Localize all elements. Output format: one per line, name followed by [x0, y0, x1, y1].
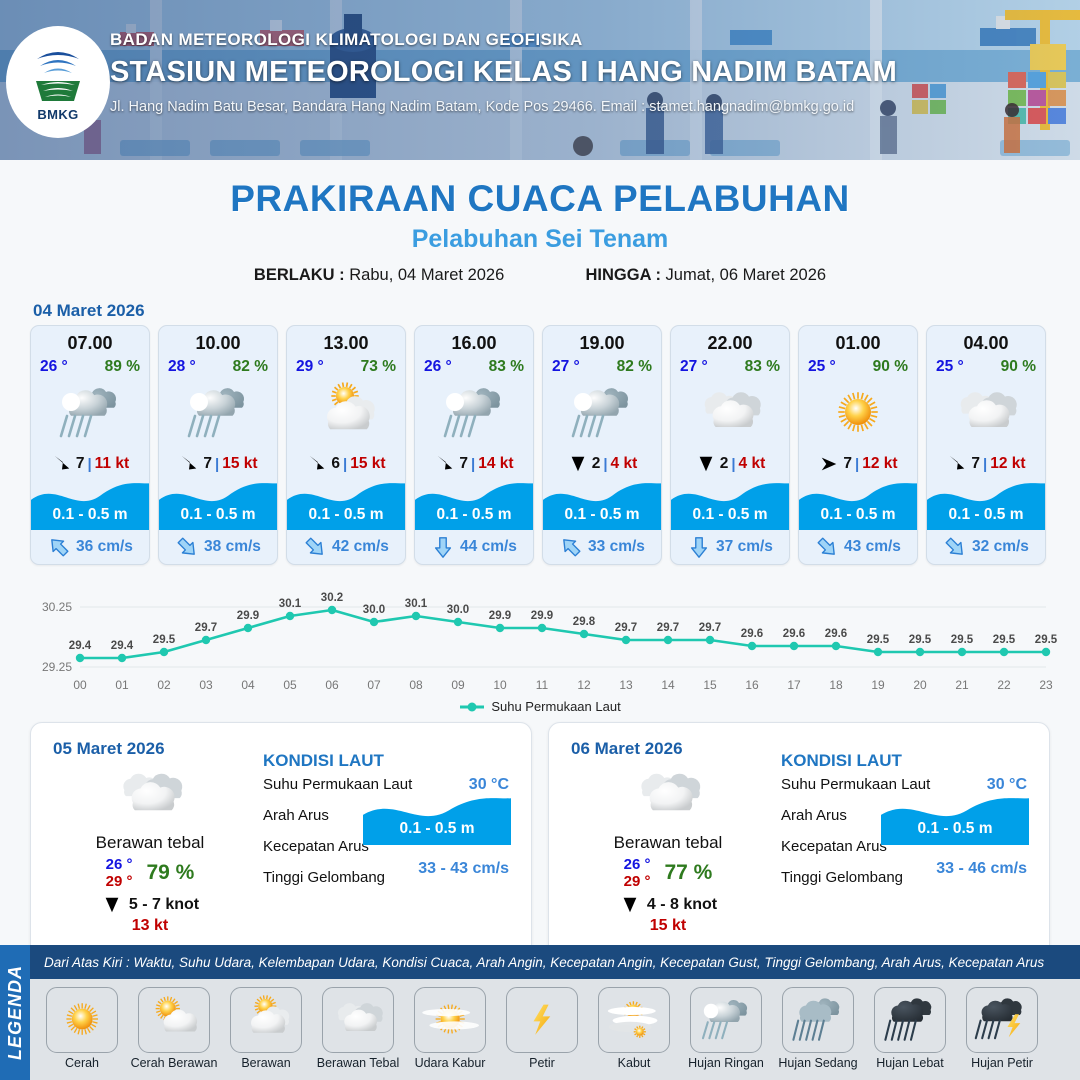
light-rain-icon — [51, 382, 129, 444]
sunny-icon — [819, 382, 897, 444]
legend-item: Petir — [498, 987, 586, 1070]
legend-item: Hujan Lebat — [866, 987, 954, 1070]
wave-height-block: 0.1 - 0.5 m — [31, 478, 149, 530]
legend-item-label: Hujan Lebat — [866, 1056, 954, 1070]
wind-info: 7 | 15 kt — [159, 450, 277, 478]
wind-direction-arrow-s-icon — [695, 454, 717, 474]
wind-separator: | — [603, 456, 607, 473]
wind-speed: 7 — [203, 455, 212, 473]
legend-item-label: Petir — [498, 1056, 586, 1070]
wind-separator: | — [471, 456, 475, 473]
hourly-forecast-row: 07.00 26 ° 89 % 7 | 11 kt 0.1 - 0. — [0, 325, 1080, 565]
wind-info: 7 | 12 kt — [799, 450, 917, 478]
wave-height-block: 0.1 - 0.5 m — [159, 478, 277, 530]
legend-icon-cell — [598, 987, 670, 1053]
current-direction-arrow-se-icon — [815, 535, 839, 559]
wave-height-row: Tinggi Gelombang — [781, 869, 1035, 900]
svg-text:30.1: 30.1 — [405, 598, 428, 610]
wind-speed-range: 5 - 7 knot — [129, 896, 199, 914]
legend-item: Berawan Tebal — [314, 987, 402, 1070]
legend-line-marker-icon — [459, 701, 485, 713]
svg-text:29.9: 29.9 — [531, 610, 553, 622]
wind-direction-arrow-e-icon — [818, 454, 840, 474]
wind-gust: 14 kt — [478, 455, 513, 473]
wind-direction-arrow-s-icon — [567, 454, 589, 474]
wind-info: 6 | 15 kt — [287, 450, 405, 478]
wind-speed: 7 — [971, 455, 980, 473]
legend-icon-cell — [966, 987, 1038, 1053]
thunder-icon — [511, 995, 573, 1045]
wind-gust: 11 kt — [95, 455, 129, 473]
air-temperature: 25 ° — [808, 358, 836, 376]
hourly-date-label: 04 Maret 2026 — [33, 301, 1080, 321]
wind-speed: 2 — [592, 455, 601, 473]
air-temperature: 27 ° — [552, 358, 580, 376]
wave-height-value: 0.1 - 0.5 m — [31, 506, 149, 524]
weather-condition-icon — [799, 376, 917, 450]
overcast-icon — [627, 763, 709, 828]
sst-chart-canvas: 30.2529.2529.40029.40129.50229.70329.904… — [22, 579, 1058, 697]
weather-condition-icon — [287, 376, 405, 450]
forecast-time: 07.00 — [31, 326, 149, 354]
hourly-forecast-card[interactable]: 22.00 27 ° 83 % 2 | 4 kt 0.1 - 0.5 — [670, 325, 790, 565]
daily-forecast-panel[interactable]: 06 Maret 2026 Berawan tebal 26 ° 29 ° 77… — [548, 722, 1050, 962]
current-info: 37 cm/s — [671, 530, 789, 564]
svg-text:07: 07 — [367, 678, 381, 692]
air-temperature: 25 ° — [936, 358, 964, 376]
legend-item: Hujan Ringan — [682, 987, 770, 1070]
humidity: 82 % — [233, 358, 268, 376]
wind-gust: 4 kt — [739, 455, 766, 473]
wave-height-label: Tinggi Gelombang — [781, 869, 903, 886]
light-rain-icon — [695, 995, 757, 1045]
svg-text:29.5: 29.5 — [867, 634, 890, 646]
bmkg-logo: BMKG — [6, 26, 110, 138]
svg-text:29.6: 29.6 — [825, 628, 847, 640]
svg-text:20: 20 — [913, 678, 927, 692]
current-direction-arrow-se-icon — [175, 535, 199, 559]
current-direction-arrow-se-icon — [303, 535, 327, 559]
svg-text:04: 04 — [241, 678, 255, 692]
wind-info: 2 | 4 kt — [543, 450, 661, 478]
wind-speed: 7 — [459, 455, 468, 473]
wave-height-label: Tinggi Gelombang — [263, 869, 385, 886]
wind-speed: 7 — [843, 455, 852, 473]
svg-text:29.5: 29.5 — [1035, 634, 1058, 646]
page-header: BMKG BADAN METEOROLOGI KLIMATOLOGI DAN G… — [0, 0, 1080, 160]
legend-icon-cell — [414, 987, 486, 1053]
current-direction-arrow-nw-icon — [47, 535, 71, 559]
organization-name: BADAN METEOROLOGI KLIMATOLOGI DAN GEOFIS… — [110, 30, 1050, 50]
wave-height-block: 0.1 - 0.5 m — [363, 793, 511, 845]
weather-condition-icon — [543, 376, 661, 450]
wind-direction-arrow-nw-icon — [178, 454, 200, 474]
wind-direction-arrow-nw-icon — [51, 454, 73, 474]
wind-separator: | — [215, 456, 219, 473]
legend-item: Berawan — [222, 987, 310, 1070]
wave-height-row: Tinggi Gelombang — [263, 869, 517, 900]
svg-text:30.0: 30.0 — [363, 604, 385, 616]
forecast-time: 01.00 — [799, 326, 917, 354]
wind-gust: 4 kt — [611, 455, 638, 473]
svg-text:29.9: 29.9 — [489, 610, 511, 622]
weather-condition-label: Berawan tebal — [45, 833, 255, 853]
overcast-icon — [327, 995, 389, 1045]
legend-icon-cell — [782, 987, 854, 1053]
legend-icon-cell — [690, 987, 762, 1053]
svg-text:23: 23 — [1039, 678, 1053, 692]
current-direction-arrow-s-icon — [687, 535, 711, 559]
svg-text:29.5: 29.5 — [993, 634, 1016, 646]
hourly-forecast-card[interactable]: 10.00 28 ° 82 % 7 | 15 kt 0.1 - 0. — [158, 325, 278, 565]
legend-note: Dari Atas Kiri : Waktu, Suhu Udara, Kele… — [44, 955, 1044, 970]
legend-icon-cell — [138, 987, 210, 1053]
wave-height-value: 0.1 - 0.5 m — [287, 506, 405, 524]
valid-from-label: BERLAKU : — [254, 266, 345, 284]
legend-icon-cell — [322, 987, 394, 1053]
sea-condition-title: KONDISI LAUT — [263, 751, 517, 771]
svg-text:11: 11 — [536, 678, 549, 692]
wind-speed: 6 — [331, 455, 340, 473]
svg-text:06: 06 — [325, 678, 339, 692]
wind-direction-arrow-s-icon — [619, 895, 641, 915]
svg-text:29.8: 29.8 — [573, 616, 596, 628]
legend-item-label: Berawan Tebal — [314, 1056, 402, 1070]
legend-side-bar: LEGENDA — [0, 945, 30, 1080]
legend-item: Cerah — [38, 987, 126, 1070]
current-direction-label: Arah Arus — [263, 807, 329, 824]
sst-value: 30 °C — [987, 776, 1027, 794]
svg-text:30.25: 30.25 — [42, 600, 72, 614]
forecast-time: 04.00 — [927, 326, 1045, 354]
wave-height-value: 0.1 - 0.5 m — [881, 820, 1029, 838]
temperature-min: 26 ° — [106, 856, 133, 873]
current-info: 38 cm/s — [159, 530, 277, 564]
sunny-icon — [51, 995, 113, 1045]
air-temperature: 26 ° — [40, 358, 68, 376]
wave-height-value: 0.1 - 0.5 m — [543, 506, 661, 524]
fog-icon — [603, 995, 665, 1045]
wind-speed: 7 — [76, 455, 85, 473]
svg-text:08: 08 — [409, 678, 423, 692]
humidity: 82 % — [617, 358, 652, 376]
forecast-time: 19.00 — [543, 326, 661, 354]
humidity: 83 % — [489, 358, 524, 376]
weather-condition-icon — [563, 767, 773, 825]
temperature-min: 26 ° — [624, 856, 651, 873]
legend-note-bar: Dari Atas Kiri : Waktu, Suhu Udara, Kele… — [30, 945, 1080, 979]
svg-text:13: 13 — [619, 678, 633, 692]
wave-height-block: 0.1 - 0.5 m — [881, 793, 1029, 845]
cloudy-icon — [307, 382, 385, 444]
chart-legend-label: Suhu Permukaan Laut — [491, 699, 620, 714]
wind-gust: 15 kt — [563, 917, 773, 935]
legend-side-label: LEGENDA — [5, 965, 26, 1060]
wind-gust: 15 kt — [222, 455, 257, 473]
svg-text:30.1: 30.1 — [279, 598, 302, 610]
hourly-forecast-card[interactable]: 04.00 25 ° 90 % 7 | 12 kt 0.1 - 0. — [926, 325, 1046, 565]
current-info: 42 cm/s — [287, 530, 405, 564]
legend-item-label: Hujan Ringan — [682, 1056, 770, 1070]
current-speed: 43 cm/s — [844, 538, 901, 556]
legend-item-label: Cerah Berawan — [130, 1056, 218, 1070]
svg-text:29.25: 29.25 — [42, 660, 72, 674]
svg-text:02: 02 — [157, 678, 171, 692]
legend-item: Udara Kabur — [406, 987, 494, 1070]
legend-footer: LEGENDA Dari Atas Kiri : Waktu, Suhu Uda… — [0, 945, 1080, 1080]
svg-text:29.9: 29.9 — [237, 610, 259, 622]
wind-direction-arrow-nw-icon — [434, 454, 456, 474]
wind-info: 2 | 4 kt — [671, 450, 789, 478]
wind-gust: 12 kt — [990, 455, 1025, 473]
wind-separator: | — [855, 456, 859, 473]
forecast-time: 16.00 — [415, 326, 533, 354]
hourly-forecast-card[interactable]: 16.00 26 ° 83 % 7 | 14 kt 0.1 - 0. — [414, 325, 534, 565]
page-title: PRAKIRAAN CUACA PELABUHAN — [0, 178, 1080, 220]
hourly-forecast-card[interactable]: 19.00 27 ° 82 % 2 | 4 kt 0.1 - 0.5 — [542, 325, 662, 565]
svg-text:29.5: 29.5 — [951, 634, 974, 646]
wind-info: 7 | 12 kt — [927, 450, 1045, 478]
svg-text:18: 18 — [829, 678, 843, 692]
wind-info: 7 | 11 kt — [31, 450, 149, 478]
current-info: 43 cm/s — [799, 530, 917, 564]
current-speed: 36 cm/s — [76, 538, 133, 556]
wind-speed-range: 4 - 8 knot — [647, 896, 717, 914]
humidity: 83 % — [745, 358, 780, 376]
wind-speed: 2 — [720, 455, 729, 473]
wave-height-value: 0.1 - 0.5 m — [415, 506, 533, 524]
wave-height-value: 0.1 - 0.5 m — [927, 506, 1045, 524]
weather-condition-icon — [671, 376, 789, 450]
svg-text:03: 03 — [199, 678, 213, 692]
light-rain-icon — [563, 382, 641, 444]
valid-to-label: HINGGA : — [585, 266, 660, 284]
partly-cloudy-icon — [143, 995, 205, 1045]
legend-item-label: Hujan Petir — [958, 1056, 1046, 1070]
wave-height-value: 0.1 - 0.5 m — [799, 506, 917, 524]
legend-icon-cell — [874, 987, 946, 1053]
page-subtitle: Pelabuhan Sei Tenam — [0, 225, 1080, 254]
legend-item-label: Berawan — [222, 1056, 310, 1070]
svg-text:05: 05 — [283, 678, 297, 692]
weather-condition-icon — [31, 376, 149, 450]
cloudy-icon — [235, 995, 297, 1045]
legend-icon-cell — [46, 987, 118, 1053]
air-temperature: 27 ° — [680, 358, 708, 376]
current-direction-arrow-se-icon — [943, 535, 967, 559]
current-direction-arrow-nw-icon — [559, 535, 583, 559]
hourly-forecast-card[interactable]: 01.00 25 ° 90 % 7 | 12 kt 0.1 - 0. — [798, 325, 918, 565]
hourly-forecast-card[interactable]: 13.00 29 ° 73 % 6 | 15 kt 0.1 - 0. — [286, 325, 406, 565]
chart-legend: Suhu Permukaan Laut — [0, 699, 1080, 714]
legend-body: Dari Atas Kiri : Waktu, Suhu Udara, Kele… — [30, 945, 1080, 1080]
wind-direction-arrow-nw-icon — [946, 454, 968, 474]
humidity: 90 % — [1001, 358, 1036, 376]
legend-item-label: Kabut — [590, 1056, 678, 1070]
current-info: 33 cm/s — [543, 530, 661, 564]
svg-text:17: 17 — [787, 678, 801, 692]
svg-text:29.6: 29.6 — [783, 628, 805, 640]
legend-item-list: Cerah Cerah Berawan Berawan — [30, 979, 1080, 1070]
light-rain-icon — [435, 382, 513, 444]
svg-text:30.0: 30.0 — [447, 604, 469, 616]
legend-icon-cell — [230, 987, 302, 1053]
humidity: 89 % — [105, 358, 140, 376]
svg-text:16: 16 — [745, 678, 759, 692]
wave-height-block: 0.1 - 0.5 m — [799, 478, 917, 530]
sst-chart: 30.2529.2529.40029.40129.50229.70329.904… — [22, 579, 1058, 697]
heavy-rain-icon — [879, 995, 941, 1045]
forecast-date: 05 Maret 2026 — [53, 739, 165, 759]
temperature-max: 29 ° — [106, 873, 133, 890]
svg-text:12: 12 — [577, 678, 591, 692]
legend-item-label: Hujan Sedang — [774, 1056, 862, 1070]
station-name: STASIUN METEOROLOGI KELAS I HANG NADIM B… — [110, 56, 1050, 89]
humidity: 73 % — [361, 358, 396, 376]
overcast-icon — [109, 763, 191, 828]
current-speed-label: Kecepatan Arus — [781, 838, 887, 855]
legend-icon-cell — [506, 987, 578, 1053]
wave-height-value: 0.1 - 0.5 m — [363, 820, 511, 838]
svg-text:29.5: 29.5 — [153, 634, 176, 646]
thunderstorm-icon — [971, 995, 1033, 1045]
current-direction-label: Arah Arus — [781, 807, 847, 824]
wind-direction-arrow-s-icon — [101, 895, 123, 915]
wave-height-block: 0.1 - 0.5 m — [671, 478, 789, 530]
current-direction-arrow-s-icon — [431, 535, 455, 559]
sst-label: Suhu Permukaan Laut — [263, 776, 412, 793]
svg-text:29.4: 29.4 — [69, 640, 92, 652]
weather-condition-icon — [927, 376, 1045, 450]
wave-height-block: 0.1 - 0.5 m — [287, 478, 405, 530]
wind-direction-arrow-nw-icon — [306, 454, 328, 474]
current-speed: 38 cm/s — [204, 538, 261, 556]
legend-item-label: Udara Kabur — [406, 1056, 494, 1070]
legend-item: Kabut — [590, 987, 678, 1070]
svg-text:29.7: 29.7 — [195, 622, 217, 634]
title-section: PRAKIRAAN CUACA PELABUHAN Pelabuhan Sei … — [0, 178, 1080, 285]
legend-item: Cerah Berawan — [130, 987, 218, 1070]
wave-height-value: 0.1 - 0.5 m — [671, 506, 789, 524]
weather-condition-icon — [415, 376, 533, 450]
sst-label: Suhu Permukaan Laut — [781, 776, 930, 793]
current-speed: 44 cm/s — [460, 538, 517, 556]
forecast-time: 10.00 — [159, 326, 277, 354]
wind-separator: | — [731, 456, 735, 473]
air-temperature: 26 ° — [424, 358, 452, 376]
current-speed: 33 cm/s — [588, 538, 645, 556]
current-info: 44 cm/s — [415, 530, 533, 564]
current-info: 36 cm/s — [31, 530, 149, 564]
wind-info: 7 | 14 kt — [415, 450, 533, 478]
svg-text:30.2: 30.2 — [321, 592, 343, 604]
wave-height-block: 0.1 - 0.5 m — [927, 478, 1045, 530]
svg-text:21: 21 — [955, 678, 969, 692]
wind-info: 4 - 8 knot — [563, 895, 773, 915]
legend-item: Hujan Sedang — [774, 987, 862, 1070]
svg-text:29.7: 29.7 — [615, 622, 637, 634]
daily-forecast-row: 05 Maret 2026 Berawan tebal 26 ° 29 ° 79… — [0, 714, 1080, 962]
legend-item: Hujan Petir — [958, 987, 1046, 1070]
valid-to-value: Jumat, 06 Maret 2026 — [666, 266, 827, 284]
wind-gust: 12 kt — [862, 455, 897, 473]
current-speed-label: Kecepatan Arus — [263, 838, 369, 855]
wave-height-block: 0.1 - 0.5 m — [415, 478, 533, 530]
hourly-forecast-card[interactable]: 07.00 26 ° 89 % 7 | 11 kt 0.1 - 0. — [30, 325, 150, 565]
wind-info: 5 - 7 knot — [45, 895, 255, 915]
light-rain-icon — [179, 382, 257, 444]
wind-gust: 13 kt — [45, 917, 255, 935]
logo-label: BMKG — [37, 107, 78, 122]
svg-text:15: 15 — [703, 678, 717, 692]
validity-range: BERLAKU : Rabu, 04 Maret 2026 HINGGA : J… — [0, 266, 1080, 285]
svg-text:19: 19 — [871, 678, 885, 692]
svg-text:10: 10 — [493, 678, 507, 692]
weather-condition-label: Berawan tebal — [563, 833, 773, 853]
svg-text:29.7: 29.7 — [657, 622, 679, 634]
sst-value: 30 °C — [469, 776, 509, 794]
svg-text:29.6: 29.6 — [741, 628, 763, 640]
wind-separator: | — [983, 456, 987, 473]
wind-gust: 15 kt — [350, 455, 385, 473]
svg-text:00: 00 — [73, 678, 87, 692]
overcast-icon — [691, 382, 769, 444]
current-speed: 42 cm/s — [332, 538, 389, 556]
weather-condition-icon — [159, 376, 277, 450]
valid-from-value: Rabu, 04 Maret 2026 — [349, 266, 504, 284]
wave-height-block: 0.1 - 0.5 m — [543, 478, 661, 530]
current-info: 32 cm/s — [927, 530, 1045, 564]
svg-text:09: 09 — [451, 678, 465, 692]
humidity: 79 % — [146, 861, 194, 885]
daily-forecast-panel[interactable]: 05 Maret 2026 Berawan tebal 26 ° 29 ° 79… — [30, 722, 532, 962]
haze-icon — [419, 995, 481, 1045]
humidity: 77 % — [664, 861, 712, 885]
air-temperature: 29 ° — [296, 358, 324, 376]
forecast-date: 06 Maret 2026 — [571, 739, 683, 759]
wind-separator: | — [343, 456, 347, 473]
forecast-time: 13.00 — [287, 326, 405, 354]
humidity: 90 % — [873, 358, 908, 376]
svg-text:29.5: 29.5 — [909, 634, 932, 646]
overcast-icon — [947, 382, 1025, 444]
svg-text:29.7: 29.7 — [699, 622, 721, 634]
svg-text:01: 01 — [115, 678, 129, 692]
legend-item-label: Cerah — [38, 1056, 126, 1070]
weather-condition-icon — [45, 767, 255, 825]
temperature-max: 29 ° — [624, 873, 651, 890]
current-speed: 32 cm/s — [972, 538, 1029, 556]
bmkg-emblem-icon — [29, 43, 87, 105]
station-address: Jl. Hang Nadim Batu Besar, Bandara Hang … — [110, 99, 1050, 115]
svg-text:22: 22 — [997, 678, 1011, 692]
svg-text:14: 14 — [661, 678, 675, 692]
wave-height-value: 0.1 - 0.5 m — [159, 506, 277, 524]
wind-separator: | — [87, 456, 91, 473]
air-temperature: 28 ° — [168, 358, 196, 376]
svg-text:29.4: 29.4 — [111, 640, 134, 652]
forecast-time: 22.00 — [671, 326, 789, 354]
sea-condition-title: KONDISI LAUT — [781, 751, 1035, 771]
moderate-rain-icon — [787, 995, 849, 1045]
current-speed: 37 cm/s — [716, 538, 773, 556]
